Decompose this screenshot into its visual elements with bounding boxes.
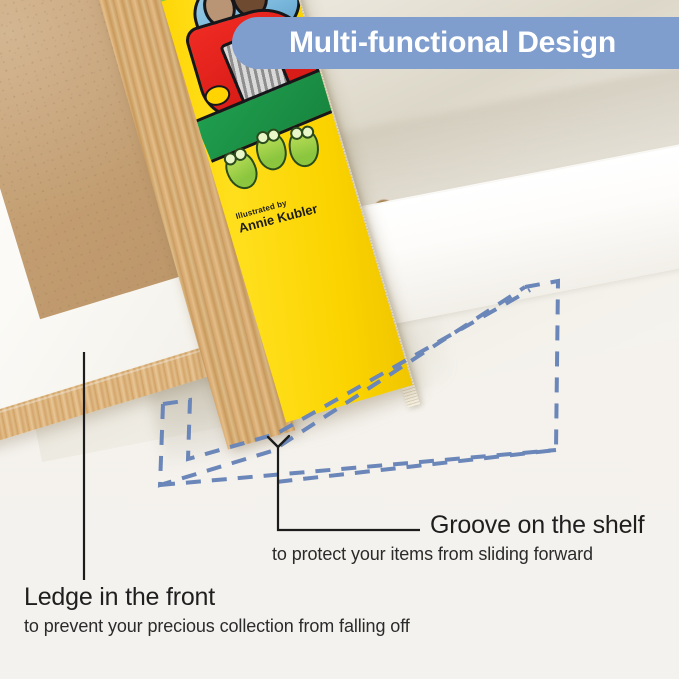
callout-groove-subtitle: to protect your items from sliding forwa… (272, 544, 644, 565)
annotation-vector-layer (0, 0, 679, 679)
product-photo-scene: Illustrated by Annie Kubler (0, 0, 679, 679)
headline-banner: Multi-functional Design (232, 17, 679, 69)
annotation-overlay (0, 0, 679, 679)
groove-leader-line (278, 447, 420, 530)
headline-banner-label: Multi-functional Design (289, 26, 616, 60)
callout-groove: Groove on the shelf to protect your item… (430, 511, 644, 565)
callout-ledge-subtitle: to prevent your precious collection from… (24, 616, 410, 637)
callout-groove-title: Groove on the shelf (430, 511, 644, 540)
callout-ledge-title: Ledge in the front (24, 583, 410, 612)
callout-ledge: Ledge in the front to prevent your preci… (24, 583, 410, 637)
groove-dashed-outline (160, 281, 558, 485)
